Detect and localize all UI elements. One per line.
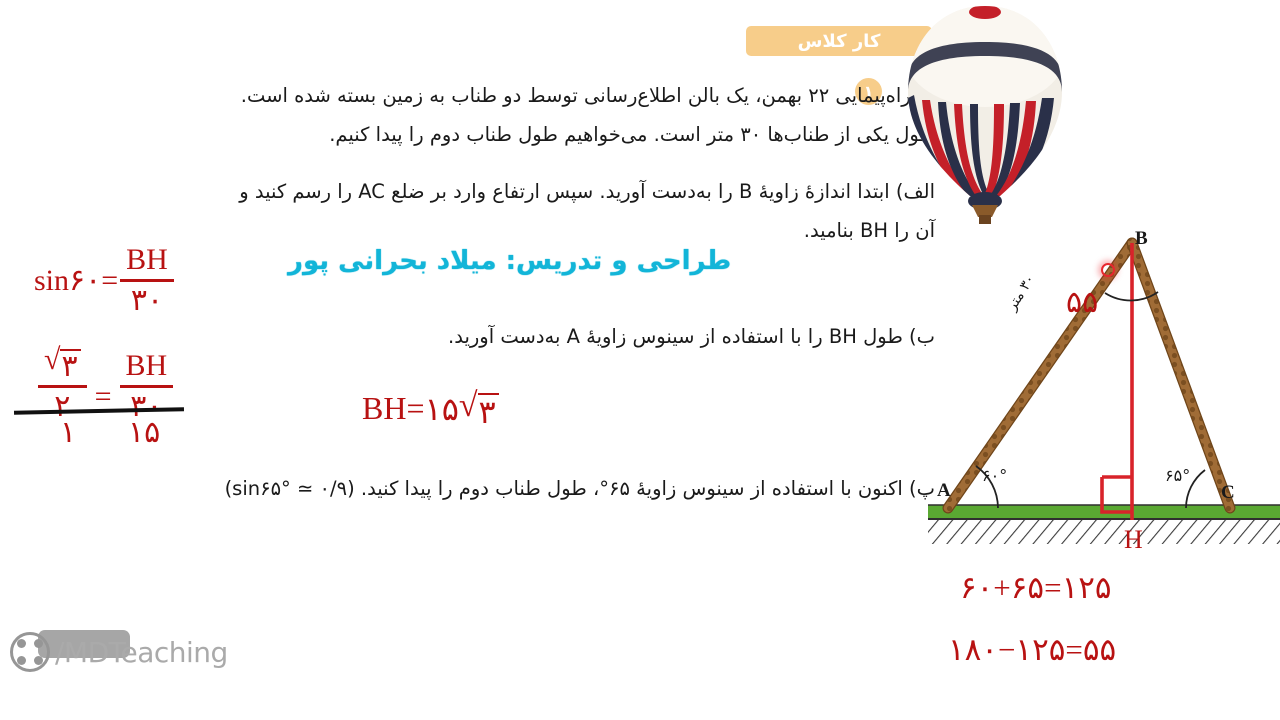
radical-sign-icon: √ — [459, 390, 478, 422]
radical-sign-icon: √ — [44, 346, 60, 375]
watermark: /MDTeaching — [10, 632, 228, 672]
handwritten-calc-line-1: ۶۰+۶۵=۱۲۵ — [960, 570, 1112, 606]
section-banner-label: کار کلاس — [798, 31, 881, 52]
fraction-bar — [120, 385, 174, 388]
question-part-be: ب) طول BH را با استفاده از سینوس زاویهٔ … — [275, 320, 935, 354]
question-paragraph-1: در راه‌پیمایی ۲۲ بهمن، یک بالن اطلاع‌رسا… — [125, 76, 935, 154]
teacher-credit: طراحی و تدریس: میلاد بحرانی پور — [288, 246, 731, 276]
result-coefficient: ۱۵ — [425, 390, 459, 428]
fraction-denominator: ۳۰ — [125, 285, 169, 317]
geometry-diagram: A B C H ۶۰° ۶۵° ۵۵ ۳۰ متر — [900, 0, 1280, 560]
result-lhs: BH= — [362, 390, 425, 427]
handwritten-equation-sin60: sin۶۰= BH ۳۰ — [34, 244, 174, 316]
foot-label-h: H — [1124, 525, 1143, 555]
page-root: کار کلاس ۱ در راه‌پیمایی ۲۲ بهمن، یک بال… — [0, 0, 1280, 720]
question-paragraph-1-line-1: در راه‌پیمایی ۲۲ بهمن، یک بالن اطلاع‌رسا… — [125, 76, 935, 115]
equation-lhs: sin۶۰= — [34, 263, 118, 298]
simplified-right-denominator: ۱۵ — [128, 415, 160, 450]
fraction-bh-over-30: BH ۳۰ — [120, 244, 174, 316]
sqrt-three-result: √ ۳ — [459, 390, 499, 428]
film-reel-icon — [10, 632, 50, 672]
angle-label-b-value: ۵۵ — [1066, 286, 1098, 319]
rope-ab — [948, 243, 1132, 508]
angle-label-c: ۶۵° — [1165, 466, 1190, 485]
question-paragraph-1-line-2: طول یکی از طناب‌ها ۳۰ متر است. می‌خواهیم… — [125, 115, 935, 154]
handwritten-result-bh: BH= ۱۵ √ ۳ — [362, 390, 499, 428]
fraction-bar — [120, 279, 174, 282]
vertex-label-a: A — [937, 480, 951, 502]
radicand: ۳ — [478, 393, 499, 428]
fraction-numerator: BH — [120, 350, 174, 382]
fraction-numerator: BH — [120, 244, 174, 276]
fraction-bar — [38, 385, 87, 388]
ground-hatching — [928, 519, 1280, 544]
question-part-pe: پ) اکنون با استفاده از سینوس زاویهٔ ۶۵°،… — [25, 472, 935, 506]
question-part-alef-line-2: آن را BH بنامید. — [125, 211, 935, 250]
angle-label-a: ۶۰° — [982, 466, 1007, 485]
radicand: ۳ — [60, 349, 80, 382]
handwritten-calc-line-2: ۱۸۰−۱۲۵=۵۵ — [948, 632, 1116, 668]
vertex-label-c: C — [1221, 482, 1235, 504]
question-part-alef-line-1: الف) ابتدا اندازهٔ زاویهٔ B را به‌دست آو… — [125, 172, 935, 211]
vertex-label-b: B — [1135, 228, 1148, 250]
question-part-alef: الف) ابتدا اندازهٔ زاویهٔ B را به‌دست آو… — [125, 172, 935, 250]
simplified-left-denominator: ۱ — [60, 415, 76, 450]
watermark-text: /MDTeaching — [55, 636, 228, 669]
angle-label-b: ۵۵ — [1066, 285, 1098, 320]
sqrt-three: √ ۳ — [38, 346, 87, 382]
triangle-figure — [900, 0, 1280, 560]
